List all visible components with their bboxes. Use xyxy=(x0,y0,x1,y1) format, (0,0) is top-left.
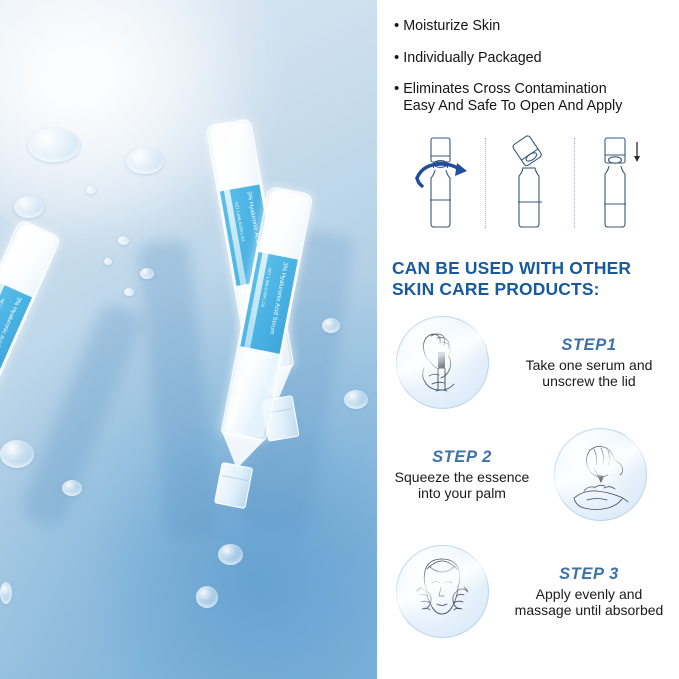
step-2-title: STEP 2 xyxy=(382,448,542,467)
water-droplet xyxy=(126,148,164,174)
water-droplet xyxy=(344,390,368,409)
headline-line-1: CAN BE USED WITH OTHER xyxy=(392,258,672,279)
how-to-panel-lift-cap xyxy=(488,134,572,232)
feature-text: Moisturize Skin xyxy=(403,18,500,35)
water-droplet xyxy=(218,544,243,565)
headline-line-2: SKIN CARE PRODUCTS: xyxy=(392,279,672,300)
water-droplet xyxy=(62,480,82,496)
water-droplet xyxy=(140,268,154,279)
step-3-text: STEP 3 Apply evenly and massage until ab… xyxy=(501,565,677,619)
bullet-dot-icon: • xyxy=(394,50,399,65)
feature-text: Individually Packaged xyxy=(403,50,541,67)
feature-item: • Moisturize Skin xyxy=(394,18,679,35)
product-infographic: 3% Hyaluronic Acid Serum NET 1.5ML/0.05F… xyxy=(0,0,679,679)
bullet-dot-icon: • xyxy=(394,81,399,96)
water-droplet xyxy=(0,582,12,604)
water-droplet xyxy=(14,196,44,218)
feature-text: Eliminates Cross Contamination Easy And … xyxy=(403,81,622,114)
step-2-text: STEP 2 Squeeze the essence into your pal… xyxy=(382,448,542,502)
water-droplet xyxy=(0,440,34,468)
page-title: CAN BE USED WITH OTHER SKIN CARE PRODUCT… xyxy=(392,258,672,300)
feature-list: • Moisturize Skin • Individually Package… xyxy=(394,18,679,129)
step-1-text: STEP1 Take one serum and unscrew the lid xyxy=(505,336,673,390)
water-droplet xyxy=(322,318,340,333)
step-3: STEP 3 Apply evenly and massage until ab… xyxy=(396,545,677,638)
feature-item: • Eliminates Cross Contamination Easy An… xyxy=(394,81,679,114)
step-3-illustration xyxy=(396,545,489,638)
water-droplet xyxy=(86,186,96,194)
step-2-description: Squeeze the essence into your palm xyxy=(382,469,542,502)
step-1-description: Take one serum and unscrew the lid xyxy=(505,357,673,390)
water-droplet xyxy=(124,288,134,296)
step-1-title: STEP1 xyxy=(505,336,673,355)
water-droplet xyxy=(118,236,129,245)
ampoule-label: 3% Hyaluronic Acid Serum NET 1.5ML/0.05F… xyxy=(0,281,32,385)
step-2: STEP 2 Squeeze the essence into your pal… xyxy=(382,428,647,521)
step-2-illustration xyxy=(554,428,647,521)
label-product-name: 3% Hyaluronic Acid Serum xyxy=(0,296,22,366)
water-droplet xyxy=(28,128,80,162)
water-droplet xyxy=(196,586,218,608)
step-1: STEP1 Take one serum and unscrew the lid xyxy=(396,316,673,409)
lift-cap-off-icon xyxy=(488,134,572,232)
how-to-panel-twist xyxy=(399,134,483,232)
twist-cap-icon xyxy=(399,134,483,232)
how-to-panel-press-down xyxy=(577,134,661,232)
how-to-open-diagram xyxy=(399,134,661,232)
press-down-icon xyxy=(577,134,661,232)
panel-divider xyxy=(574,138,575,228)
feature-item: • Individually Packaged xyxy=(394,50,679,67)
water-droplet xyxy=(104,258,112,265)
step-1-illustration xyxy=(396,316,489,409)
panel-divider xyxy=(485,138,486,228)
step-3-description: Apply evenly and massage until absorbed xyxy=(501,586,677,619)
step-3-title: STEP 3 xyxy=(501,565,677,584)
product-photo: 3% Hyaluronic Acid Serum NET 1.5ML/0.05F… xyxy=(0,0,377,679)
bullet-dot-icon: • xyxy=(394,18,399,33)
